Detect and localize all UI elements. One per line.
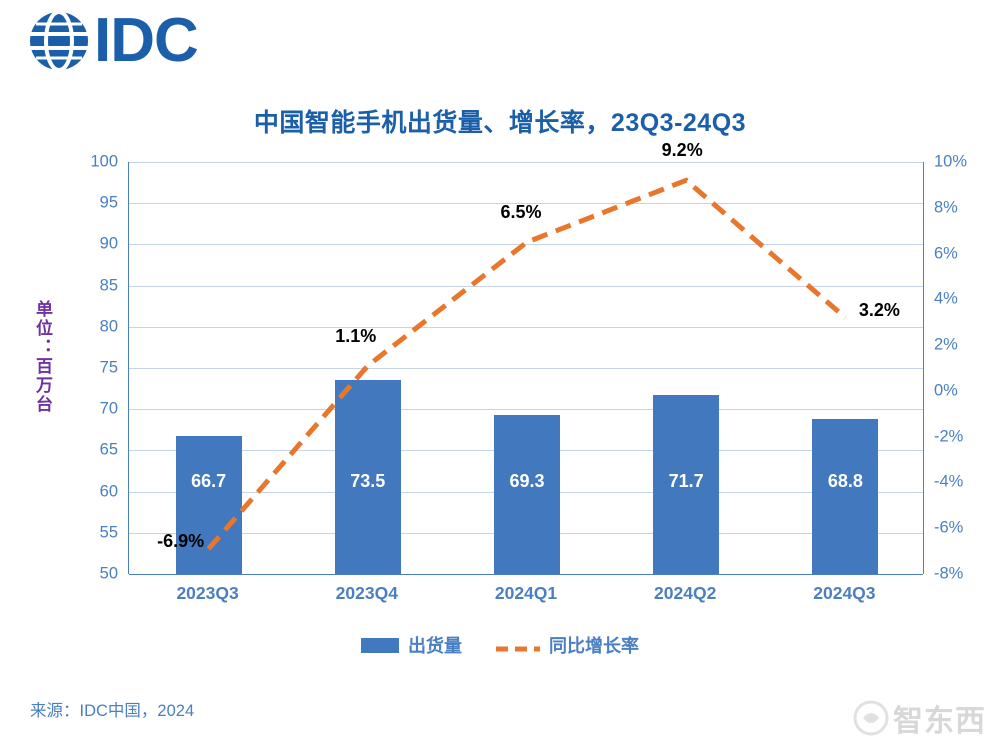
legend-swatch-bar xyxy=(361,638,399,653)
y2-tick-label: 4% xyxy=(934,290,994,309)
idc-logo-text: IDC xyxy=(94,10,198,72)
y-tick-label: 70 xyxy=(68,400,118,419)
y2-tick-label: -6% xyxy=(934,519,994,538)
y-axis-title: 单位：百万台 xyxy=(30,300,55,414)
legend-label-growth: 同比增长率 xyxy=(549,632,639,658)
page-title: 中国智能手机出货量、增长率，23Q3-24Q3 xyxy=(0,103,1000,139)
x-axis-labels: 2023Q32023Q42024Q12024Q22024Q3 xyxy=(128,583,924,613)
line-data-label: 9.2% xyxy=(662,140,703,161)
line-series xyxy=(129,162,925,574)
x-tick-label: 2023Q3 xyxy=(176,583,238,604)
source-note: 来源：IDC中国，2024 xyxy=(30,697,194,721)
y2-tick-label: 10% xyxy=(934,153,994,172)
y-tick-label: 95 xyxy=(68,194,118,213)
y-tick-label: 100 xyxy=(68,153,118,172)
line-data-label: 1.1% xyxy=(335,326,376,347)
globe-icon xyxy=(28,10,90,72)
y-tick-label: 75 xyxy=(68,359,118,378)
y2-tick-label: 2% xyxy=(934,336,994,355)
y-tick-label: 80 xyxy=(68,317,118,336)
watermark: 智东西 xyxy=(853,696,986,740)
plot-area: 66.773.569.371.768.8 -6.9%1.1%6.5%9.2%3.… xyxy=(128,162,924,574)
legend-item-shipments: 出货量 xyxy=(361,632,462,658)
y-tick-label: 65 xyxy=(68,441,118,460)
chart-plot: 66.773.569.371.768.8 -6.9%1.1%6.5%9.2%3.… xyxy=(128,162,924,574)
y2-tick-label: 8% xyxy=(934,198,994,217)
x-tick-label: 2023Q4 xyxy=(336,583,398,604)
line-data-label: 6.5% xyxy=(500,202,541,223)
y2-tick-label: 0% xyxy=(934,381,994,400)
y-tick-label: 55 xyxy=(68,523,118,542)
y-tick-label: 90 xyxy=(68,235,118,254)
y-tick-label: 85 xyxy=(68,276,118,295)
idc-logo: IDC xyxy=(28,10,198,72)
y2-tick-label: -4% xyxy=(934,473,994,492)
line-data-label: -6.9% xyxy=(157,531,204,552)
y2-tick-label: -8% xyxy=(934,565,994,584)
y-tick-label: 60 xyxy=(68,482,118,501)
line-data-label: 3.2% xyxy=(859,300,900,321)
x-tick-label: 2024Q1 xyxy=(495,583,557,604)
legend-item-growth: 同比增长率 xyxy=(496,632,639,658)
y2-tick-label: 6% xyxy=(934,244,994,263)
y2-tick-label: -2% xyxy=(934,427,994,446)
y-tick-label: 50 xyxy=(68,565,118,584)
chart-legend: 出货量 同比增长率 xyxy=(0,632,1000,658)
legend-label-shipments: 出货量 xyxy=(408,632,462,658)
x-tick-label: 2024Q2 xyxy=(654,583,716,604)
bottom-bar xyxy=(0,736,1000,746)
gridline xyxy=(129,574,923,575)
watermark-icon xyxy=(853,700,889,736)
watermark-text: 智东西 xyxy=(893,696,986,740)
x-tick-label: 2024Q3 xyxy=(813,583,875,604)
